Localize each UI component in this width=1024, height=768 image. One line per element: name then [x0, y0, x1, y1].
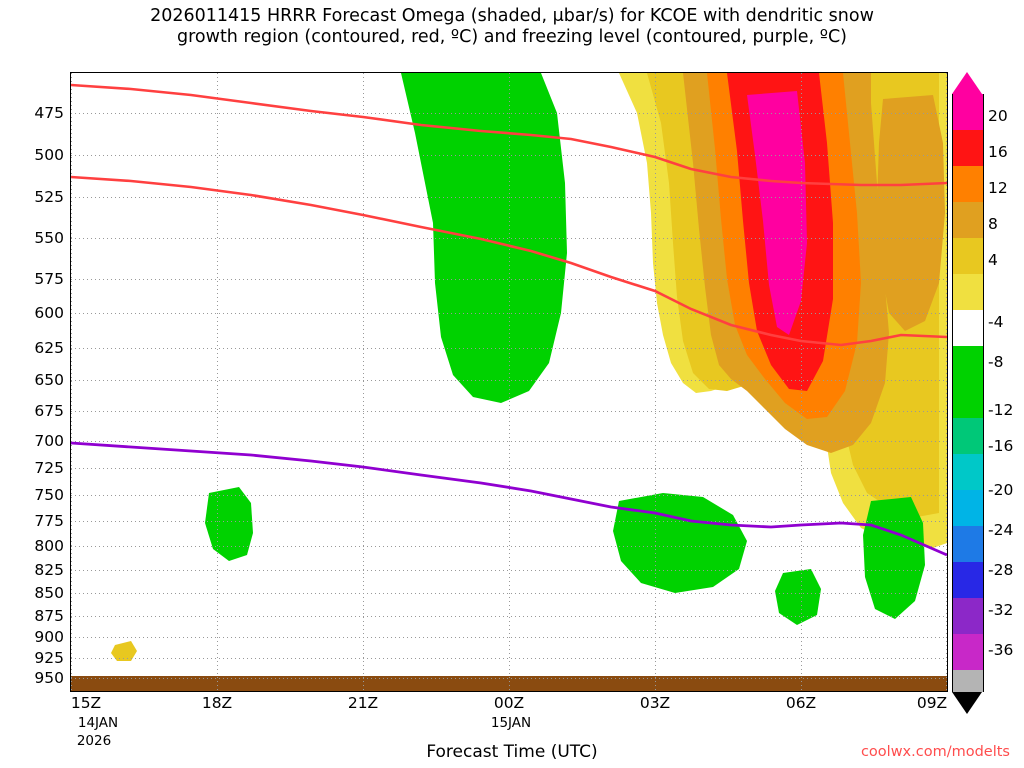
chart-page: 2026011415 HRRR Forecast Omega (shaded, …: [0, 0, 1024, 768]
source-credit: coolwx.com/modelts: [861, 744, 1010, 760]
contour-lines: [71, 73, 947, 691]
x-tick-label: 03Z: [640, 694, 670, 712]
colorbar-segment: [952, 670, 984, 692]
colorbar-segment: [952, 382, 984, 418]
colorbar-segment: [952, 238, 984, 274]
x-sub-date-mid: 15JAN: [491, 715, 531, 731]
colorbar-tick-label: 4: [988, 251, 998, 269]
dsgr-lower-contour: [71, 177, 947, 345]
freezing-level-contour: [71, 443, 947, 555]
colorbar-tick-label: -32: [988, 601, 1013, 619]
colorbar-tick-label: -8: [988, 353, 1003, 371]
y-tick-label: 800: [34, 537, 64, 555]
dsgr-upper-contour: [71, 85, 947, 185]
title-line-1: 2026011415 HRRR Forecast Omega (shaded, …: [150, 6, 874, 26]
colorbar-segment: [952, 418, 984, 454]
colorbar-tick-label: 8: [988, 215, 998, 233]
colorbar-tick-label: -28: [988, 561, 1013, 579]
y-tick-label: 625: [34, 339, 64, 357]
y-axis: 475 500 525 550 575 600 625 650 675 700 …: [6, 72, 64, 692]
x-sub-date-left: 14JAN: [78, 715, 118, 731]
colorbar-segment: [952, 274, 984, 310]
colorbar-tick-label: 16: [988, 143, 1008, 161]
colorbar-tick-label: -4: [988, 313, 1003, 331]
y-tick-label: 600: [34, 304, 64, 322]
y-tick-label: 875: [34, 607, 64, 625]
colorbar-tick-label: -24: [988, 521, 1013, 539]
colorbar-segment: [952, 634, 984, 670]
colorbar-bottom-arrow: [952, 692, 982, 714]
x-axis: 15Z 18Z 21Z 00Z 03Z 06Z 09Z 14JAN 2026 1…: [70, 694, 948, 744]
colorbar-segment: [952, 562, 984, 598]
y-tick-label: 900: [34, 628, 64, 646]
x-tick-label: 09Z: [917, 694, 947, 712]
colorbar-segment: [952, 94, 984, 130]
x-tick-label: 21Z: [348, 694, 378, 712]
y-tick-label: 500: [34, 146, 64, 164]
y-tick-label: 850: [34, 584, 64, 602]
title-line-2: growth region (contoured, red, ºC) and f…: [0, 27, 1024, 48]
colorbar-segment: [952, 598, 984, 634]
y-tick-label: 575: [34, 270, 64, 288]
colorbar-segment: [952, 346, 984, 382]
y-tick-label: 775: [34, 512, 64, 530]
y-tick-label: 675: [34, 402, 64, 420]
x-tick-label: 15Z: [71, 694, 101, 712]
colorbar-tick-label: 12: [988, 179, 1008, 197]
colorbar-segment: [952, 526, 984, 562]
y-tick-label: 475: [34, 104, 64, 122]
x-tick-label: 06Z: [786, 694, 816, 712]
colorbar-tick-label: -16: [988, 437, 1013, 455]
colorbar-segment: [952, 310, 984, 346]
colorbar-top-arrow: [952, 72, 982, 94]
y-tick-label: 700: [34, 432, 64, 450]
x-tick-label: 00Z: [494, 694, 524, 712]
plot-area: [70, 72, 948, 692]
y-tick-label: 750: [34, 486, 64, 504]
colorbar-tick-label: -36: [988, 641, 1013, 659]
x-tick-label: 18Z: [202, 694, 232, 712]
y-tick-label: 650: [34, 371, 64, 389]
plot-inner: [71, 73, 947, 691]
y-tick-label: 950: [34, 669, 64, 687]
colorbar-segment: [952, 130, 984, 166]
y-tick-label: 725: [34, 459, 64, 477]
colorbar-segment: [952, 454, 984, 490]
colorbar-tick-label: -20: [988, 481, 1013, 499]
colorbar-segment: [952, 166, 984, 202]
chart-title: 2026011415 HRRR Forecast Omega (shaded, …: [0, 6, 1024, 48]
colorbar: 20 16 12 8 4 -4 -8 -12 -16 -20 -24 -28 -…: [952, 72, 982, 692]
y-tick-label: 825: [34, 561, 64, 579]
colorbar-tick-label: -12: [988, 401, 1013, 419]
colorbar-tick-label: 20: [988, 107, 1008, 125]
y-tick-label: 525: [34, 188, 64, 206]
colorbar-segment: [952, 202, 984, 238]
y-tick-label: 925: [34, 649, 64, 667]
y-tick-label: 550: [34, 229, 64, 247]
colorbar-segment: [952, 490, 984, 526]
